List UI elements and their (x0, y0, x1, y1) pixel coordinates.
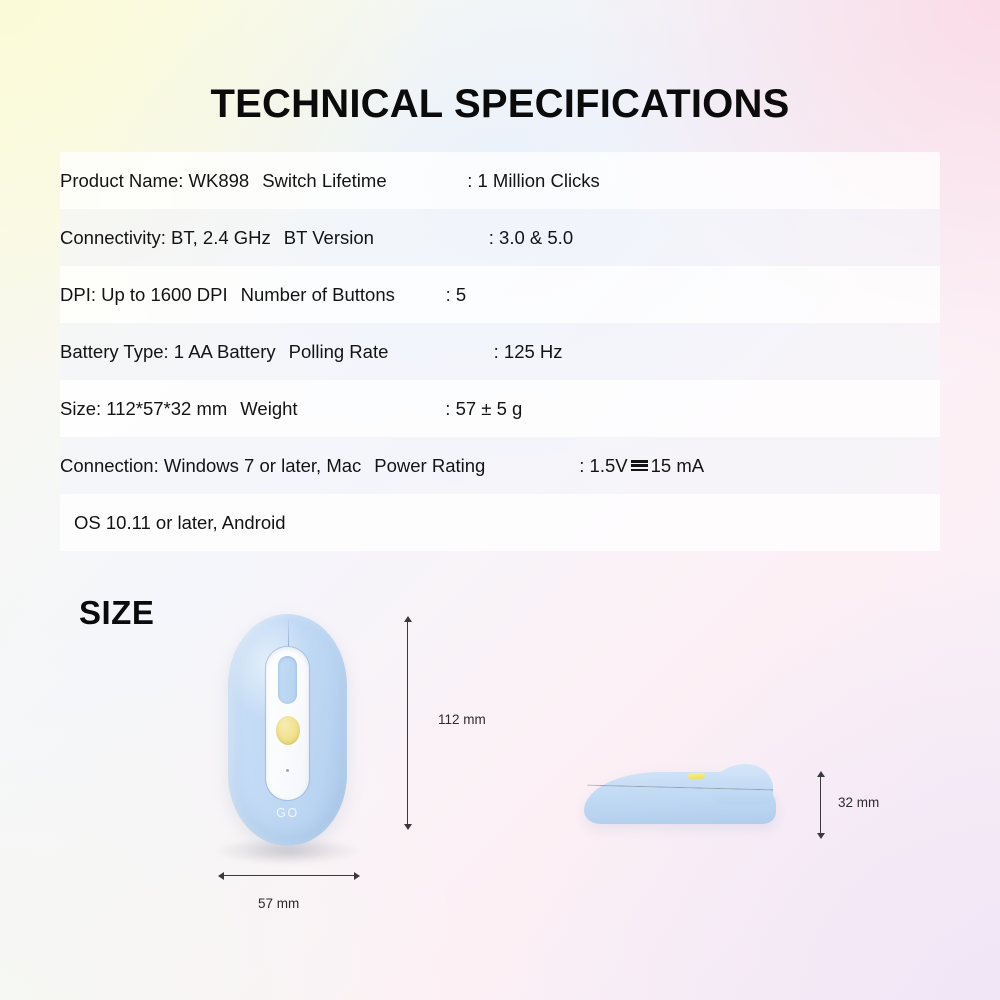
spec-key: BT Version (284, 227, 489, 249)
spec-value: : 112*57*32 mm (96, 398, 227, 420)
spec-cell-right: Number of Buttons : 5 (228, 266, 648, 323)
spec-cell-left: Product Name : WK898 (60, 152, 249, 209)
spec-key: Connection (60, 455, 154, 477)
spec-value: : BT, 2.4 GHz (161, 227, 271, 249)
spec-value: : 3.0 & 5.0 (489, 227, 573, 249)
spec-key: Polling Rate (289, 341, 494, 363)
dimension-label-height: 112 mm (438, 712, 486, 727)
spec-cell-left: Connection : Windows 7 or later, Mac (60, 437, 361, 494)
scroll-wheel (278, 656, 297, 704)
mouse-side-view-illustration (584, 764, 776, 826)
table-row: Battery Type : 1 AA Battery Polling Rate… (60, 323, 940, 380)
spec-cell-right: Polling Rate : 125 Hz (276, 323, 696, 380)
spec-key: Product Name (60, 170, 178, 192)
page-title: TECHNICAL SPECIFICATIONS (0, 82, 1000, 127)
product-spec-page: TECHNICAL SPECIFICATIONS Product Name : … (0, 0, 1000, 1000)
spec-key: DPI (60, 284, 91, 306)
arrow-down-icon (817, 833, 825, 839)
arrow-right-icon (354, 872, 360, 880)
dimension-label-depth: 32 mm (838, 795, 879, 810)
table-row: OS 10.11 or later, Android (60, 494, 940, 551)
dimension-line (820, 775, 821, 835)
table-row: Connectivity : BT, 2.4 GHz BT Version : … (60, 209, 940, 266)
spec-value-power-rating: : 1.5V15 mA (579, 455, 704, 477)
dimension-arrow-depth (816, 771, 825, 839)
spec-value: : 5 (446, 284, 467, 306)
dimension-arrow-height (403, 616, 412, 830)
spec-value: : WK898 (178, 170, 249, 192)
spec-key: Power Rating (374, 455, 579, 477)
spec-cell-left: OS 10.11 or later, Android (60, 494, 286, 551)
power-rating-current: 15 mA (651, 455, 704, 476)
spec-cell-right: Weight : 57 ± 5 g (227, 380, 647, 437)
table-row: Connection : Windows 7 or later, Mac Pow… (60, 437, 940, 494)
mouse-top-view-illustration: GO (228, 614, 347, 846)
arrow-down-icon (404, 824, 412, 830)
spec-key: Number of Buttons (241, 284, 446, 306)
spec-key: Weight (240, 398, 445, 420)
dimension-label-width: 57 mm (258, 896, 299, 911)
spec-key: Size (60, 398, 96, 420)
dpi-button (276, 716, 300, 745)
spec-value: : 1 Million Clicks (467, 170, 600, 192)
spec-value-continuation: OS 10.11 or later, Android (60, 512, 286, 534)
spec-cell-left: Battery Type : 1 AA Battery (60, 323, 276, 380)
power-rating-voltage: : 1.5V (579, 455, 627, 476)
spec-value: : 57 ± 5 g (445, 398, 522, 420)
spec-cell-left: Connectivity : BT, 2.4 GHz (60, 209, 271, 266)
spec-cell-right: Power Rating : 1.5V15 mA (361, 437, 781, 494)
size-section-heading: SIZE (79, 594, 154, 632)
dc-power-symbol-icon (631, 460, 648, 471)
mouse-button-seam (288, 616, 289, 646)
spec-key: Battery Type (60, 341, 164, 363)
table-row: DPI : Up to 1600 DPI Number of Buttons :… (60, 266, 940, 323)
dimension-line (222, 875, 356, 876)
spec-table: Product Name : WK898 Switch Lifetime : 1… (60, 152, 940, 551)
spec-cell-right (286, 494, 706, 551)
led-indicator-icon (286, 769, 289, 772)
dimension-line (407, 620, 408, 826)
dimension-arrow-width (218, 871, 360, 880)
mouse-center-strip (266, 647, 309, 800)
brand-logo: GO (228, 806, 347, 820)
table-row: Product Name : WK898 Switch Lifetime : 1… (60, 152, 940, 209)
spec-cell-right: BT Version : 3.0 & 5.0 (271, 209, 691, 266)
spec-cell-left: Size : 112*57*32 mm (60, 380, 227, 437)
spec-value: : 1 AA Battery (164, 341, 276, 363)
spec-key: Switch Lifetime (262, 170, 467, 192)
spec-key: Connectivity (60, 227, 161, 249)
dpi-button-side (688, 773, 705, 780)
spec-value: : 125 Hz (494, 341, 563, 363)
spec-cell-left: DPI : Up to 1600 DPI (60, 266, 228, 323)
spec-value: : Windows 7 or later, Mac (154, 455, 362, 477)
table-row: Size : 112*57*32 mm Weight : 57 ± 5 g (60, 380, 940, 437)
spec-cell-right: Switch Lifetime : 1 Million Clicks (249, 152, 669, 209)
spec-value: : Up to 1600 DPI (91, 284, 228, 306)
